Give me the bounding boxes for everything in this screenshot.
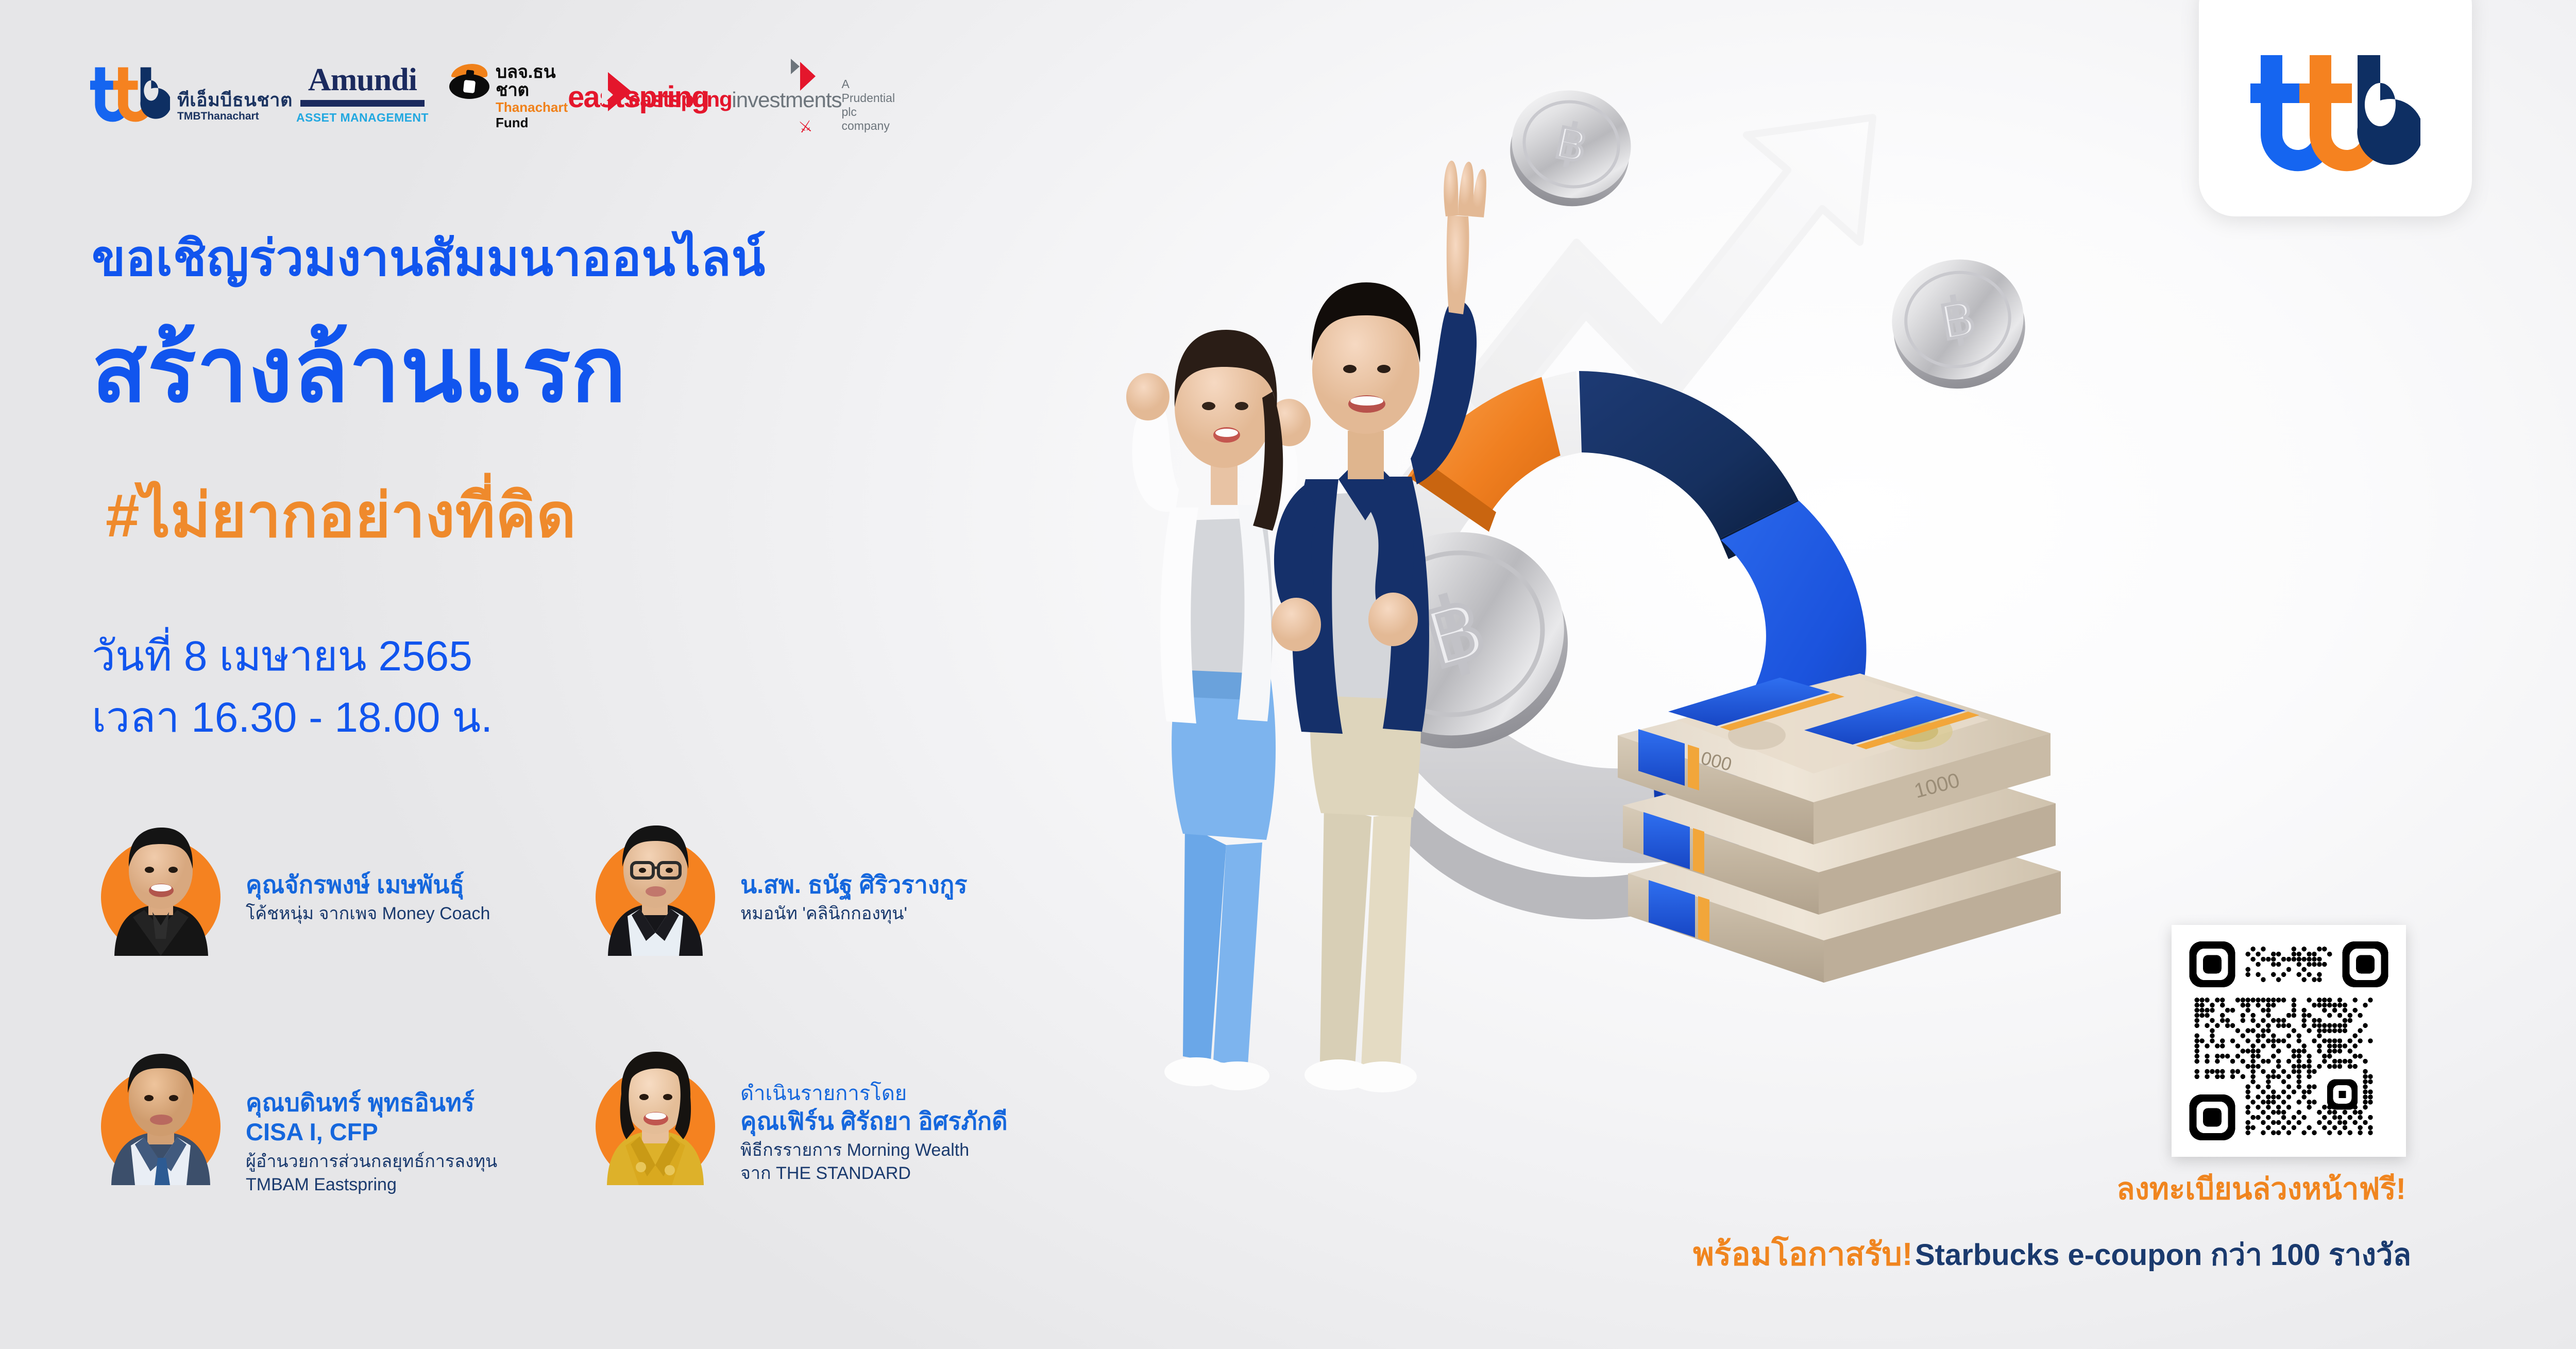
- speaker-role-2: หมอนัท 'คลินิกกองทุน': [740, 902, 968, 925]
- event-datetime: วันที่ 8 เมษายน 2565 เวลา 16.30 - 18.00 …: [92, 626, 493, 749]
- partner-logo-thanachart-fund: บลจ.ธนชาต Thanachart Fund eastspring: [448, 62, 629, 131]
- eastspring-line1: eastspring: [629, 89, 732, 110]
- baht-coin-right: ฿: [1883, 249, 2035, 399]
- speaker-avatar-1: [88, 809, 234, 956]
- speaker-name-1: คุณจักรพงษ์ เมษพันธุ์: [246, 870, 490, 899]
- moderator-role: พิธีกรรายการ Morning Wealth: [740, 1139, 1008, 1162]
- page-title: สร้างล้านแรก: [92, 325, 626, 415]
- prize-text: Starbucks e-coupon กว่า 100 รางวัล: [1915, 1238, 2411, 1272]
- speaker-card-1: คุณจักรพงษ์ เมษพันธุ์ โค้ชหนุ่ม จากเพจ M…: [88, 809, 582, 956]
- speaker-row-top: คุณจักรพงษ์ เมษพันธุ์ โค้ชหนุ่ม จากเพจ M…: [88, 809, 1097, 956]
- partner-ttb-thai: ทีเอ็มบีธนชาต: [177, 90, 293, 110]
- thanachart-thai: บลจ.ธนชาต: [496, 63, 568, 99]
- campaign-hashtag: #ไม่ยากอย่างที่คิด: [106, 466, 576, 563]
- hero-artwork: 1000 1000 ฿: [1056, 0, 2241, 1211]
- speaker-name-2: น.สพ. ธนัฐ ศิริวรางกูร: [740, 870, 968, 899]
- eastspring-line2: investments: [732, 89, 841, 111]
- speaker-avatar-3: [88, 1038, 234, 1185]
- registration-qr-code[interactable]: [2172, 925, 2406, 1157]
- seminar-kicker: ขอเชิญร่วมงานสัมมนาออนไลน์: [92, 219, 766, 297]
- thanachart-english: Thanachart Fund: [496, 100, 568, 131]
- partner-logo-amundi: Amundi ASSET MANAGEMENT: [296, 62, 448, 125]
- amundi-subtitle: ASSET MANAGEMENT: [296, 111, 429, 125]
- event-time: เวลา 16.30 - 18.00 น.: [92, 687, 493, 749]
- partner-logo-ttb: ทีเอ็มบีธนชาต TMBThanachart: [90, 62, 296, 123]
- speaker-role-3: ผู้อำนวยการส่วนกลยุทธ์การลงทุน: [246, 1150, 497, 1173]
- speaker-credential-3: CISA I, CFP: [246, 1117, 497, 1146]
- ttb-logo-badge: [2199, 0, 2472, 216]
- ttb-logo-icon: [2250, 44, 2420, 173]
- model-woman: [1126, 330, 1311, 1090]
- prize-row: พร้อมโอกาสรับ! Starbucks e-coupon กว่า 1…: [1535, 1229, 2411, 1279]
- partner-logo-strip: ทีเอ็มบีธนชาต TMBThanachart Amundi ASSET…: [90, 62, 824, 133]
- qr-code-icon: [2183, 936, 2395, 1145]
- eastspring-tagline: A Prudential plc company: [842, 77, 895, 133]
- thanachart-mark-icon: [448, 63, 490, 101]
- baht-coin-top: ฿: [1500, 79, 1641, 217]
- moderator-avatar: [582, 1038, 729, 1185]
- moderator-name: คุณเฟิร์น ศิรัถยา อิศรภักดี: [740, 1106, 1008, 1136]
- speaker-role-3b: TMBAM Eastspring: [246, 1173, 497, 1196]
- moderator-card: ดำเนินรายการโดย คุณเฟิร์น ศิรัถยา อิศรภั…: [582, 1038, 1008, 1196]
- ttb-logo-icon-small: [90, 62, 170, 123]
- speaker-avatar-2: [582, 809, 729, 956]
- speaker-role-1: โค้ชหนุ่ม จากเพจ Money Coach: [246, 902, 490, 925]
- promo-banner: 1000 1000 ฿: [0, 0, 2576, 1349]
- speaker-card-3: คุณบดินทร์ พุทธอินทร์ CISA I, CFP ผู้อำน…: [88, 1038, 582, 1196]
- prudential-icon: ⚔: [798, 117, 814, 137]
- moderator-lead: ดำเนินรายการโดย: [740, 1081, 1008, 1106]
- speaker-card-2: น.สพ. ธนัฐ ศิริวรางกูร หมอนัท 'คลินิกกอง…: [582, 809, 968, 956]
- amundi-wordmark: Amundi: [296, 65, 429, 95]
- speaker-name-3: คุณบดินทร์ พุทธอินทร์: [246, 1088, 497, 1117]
- register-free-text: ลงทะเบียนล่วงหน้าฟรี!: [1824, 1165, 2406, 1212]
- amundi-rule: [300, 100, 425, 107]
- moderator-role2: จาก THE STANDARD: [740, 1162, 1008, 1185]
- banknote-stacks: 1000 1000: [1618, 673, 2061, 983]
- partner-ttb-english: TMBThanachart: [177, 110, 293, 123]
- speaker-row-bottom: คุณบดินทร์ พุทธอินทร์ CISA I, CFP ผู้อำน…: [88, 1038, 1097, 1196]
- speaker-list: คุณจักรพงษ์ เมษพันธุ์ โค้ชหนุ่ม จากเพจ M…: [88, 809, 1097, 1196]
- prize-prefix: พร้อมโอกาสรับ!: [1693, 1237, 1912, 1272]
- event-date: วันที่ 8 เมษายน 2565: [92, 626, 493, 687]
- partner-logo-eastspring-investments: eastspring investments A Prudential plc …: [629, 62, 824, 133]
